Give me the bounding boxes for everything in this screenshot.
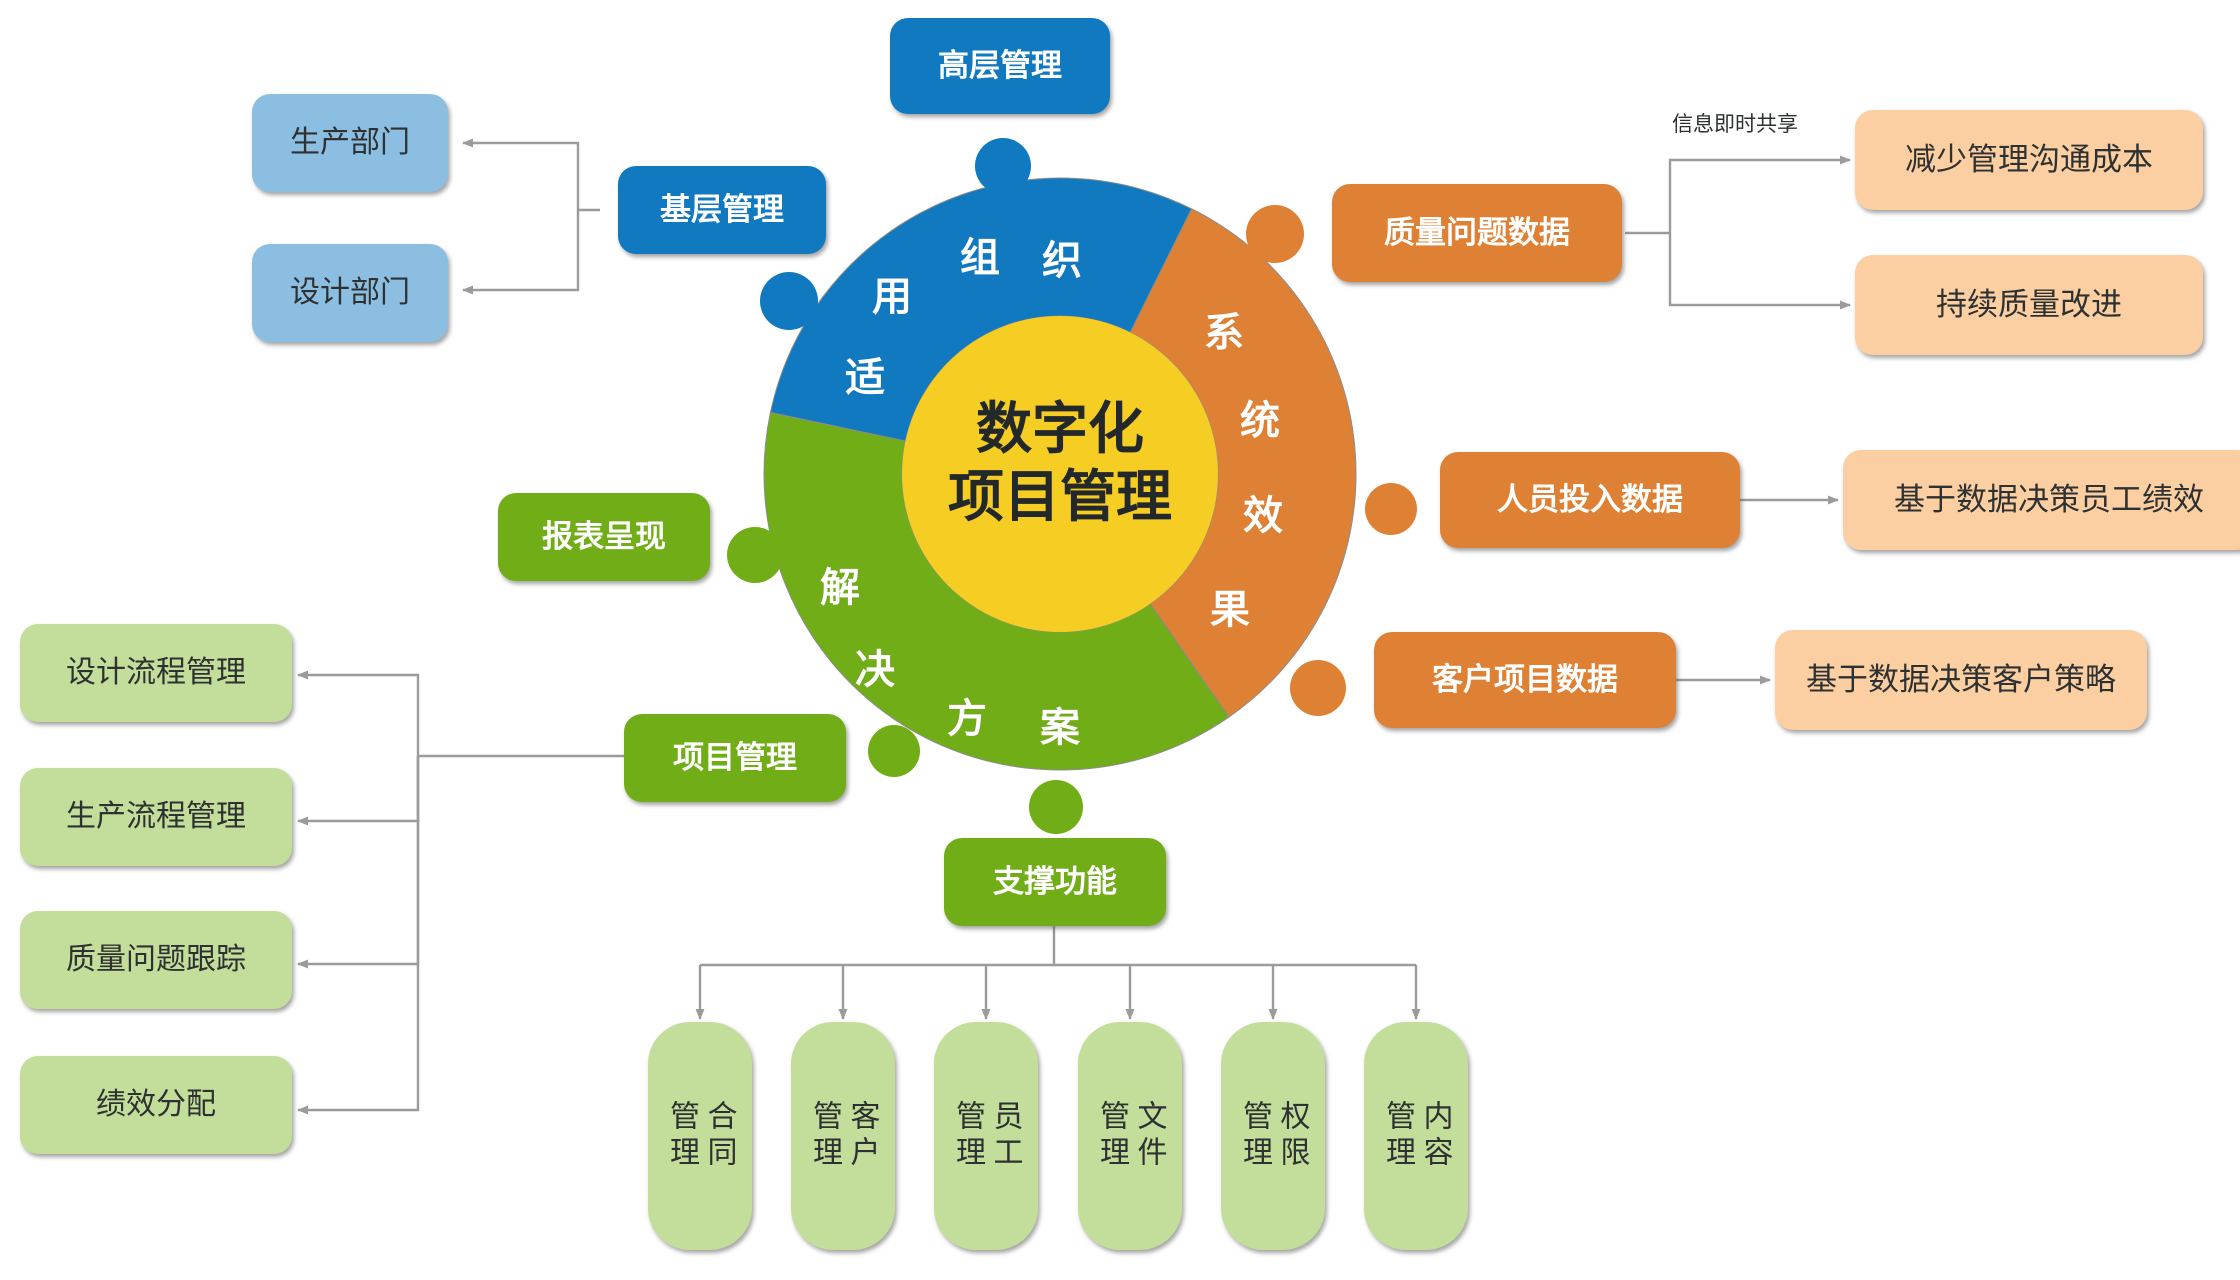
node-production-dept[interactable]: 生产部门 bbox=[252, 94, 448, 192]
hub-title: 数字化 项目管理 bbox=[900, 395, 1220, 532]
accent-dot-left-blue bbox=[760, 272, 818, 330]
ring-char-xiao: 效 bbox=[1243, 483, 1283, 541]
ring-char-shi: 适 bbox=[845, 345, 885, 403]
node-quality-issue-tracking[interactable]: 质量问题跟踪 bbox=[20, 911, 292, 1009]
ring-char-guo: 果 bbox=[1210, 577, 1250, 635]
ring-char-an: 案 bbox=[1040, 695, 1080, 753]
node-contract-mgmt[interactable]: 合同 管理 bbox=[648, 1022, 752, 1250]
accent-dot-right-orange-mid bbox=[1365, 483, 1417, 535]
ring-char-jie: 解 bbox=[820, 555, 860, 613]
accent-dot-left-green-top bbox=[727, 527, 783, 583]
node-customer-project-data[interactable]: 客户项目数据 bbox=[1374, 632, 1676, 728]
ring-char-zu: 组 bbox=[960, 225, 1000, 283]
node-reduce-comm-cost[interactable]: 减少管理沟通成本 bbox=[1855, 110, 2203, 210]
ring-char-yong: 用 bbox=[872, 264, 912, 322]
node-production-process-mgmt[interactable]: 生产流程管理 bbox=[20, 768, 292, 866]
ring-char-xi: 系 bbox=[1204, 300, 1244, 358]
edge-label-info-share: 信息即时共享 bbox=[1672, 108, 1798, 138]
node-support-function[interactable]: 支撑功能 bbox=[944, 838, 1166, 926]
node-permission-mgmt[interactable]: 权限 管理 bbox=[1221, 1022, 1325, 1250]
node-base-management[interactable]: 基层管理 bbox=[618, 166, 826, 254]
node-performance-allocation[interactable]: 绩效分配 bbox=[20, 1056, 292, 1154]
node-content-mgmt[interactable]: 内容 管理 bbox=[1364, 1022, 1468, 1250]
ring-char-jue: 决 bbox=[855, 637, 895, 695]
node-data-driven-staff-perf[interactable]: 基于数据决策员工绩效 bbox=[1843, 450, 2240, 550]
node-top-management[interactable]: 高层管理 bbox=[890, 18, 1110, 114]
diagram-canvas: 组 织 适 用 系 统 效 果 解 决 方 案 数字化 项目管理 高层管理 基层… bbox=[0, 0, 2240, 1280]
ring-char-tong: 统 bbox=[1240, 388, 1280, 446]
node-staff-input-data[interactable]: 人员投入数据 bbox=[1440, 452, 1740, 548]
node-document-mgmt[interactable]: 文件 管理 bbox=[1078, 1022, 1182, 1250]
accent-dot-bottom-green bbox=[1029, 780, 1083, 834]
node-report-presentation[interactable]: 报表呈现 bbox=[498, 493, 710, 581]
node-continuous-quality[interactable]: 持续质量改进 bbox=[1855, 255, 2203, 355]
accent-dot-top-blue bbox=[975, 138, 1031, 194]
node-customer-mgmt[interactable]: 客户 管理 bbox=[791, 1022, 895, 1250]
accent-dot-right-orange-low bbox=[1290, 660, 1346, 716]
accent-dot-right-orange-top bbox=[1246, 205, 1304, 263]
node-project-management[interactable]: 项目管理 bbox=[624, 714, 846, 802]
node-design-process-mgmt[interactable]: 设计流程管理 bbox=[20, 624, 292, 722]
ring-char-fang: 方 bbox=[947, 686, 987, 744]
accent-dot-left-green-low bbox=[868, 725, 920, 777]
node-quality-issue-data[interactable]: 质量问题数据 bbox=[1332, 184, 1622, 282]
node-design-dept[interactable]: 设计部门 bbox=[252, 244, 448, 342]
node-data-driven-customer-strategy[interactable]: 基于数据决策客户策略 bbox=[1775, 630, 2147, 730]
node-employee-mgmt[interactable]: 员工 管理 bbox=[934, 1022, 1038, 1250]
ring-char-zhi: 织 bbox=[1042, 228, 1082, 286]
